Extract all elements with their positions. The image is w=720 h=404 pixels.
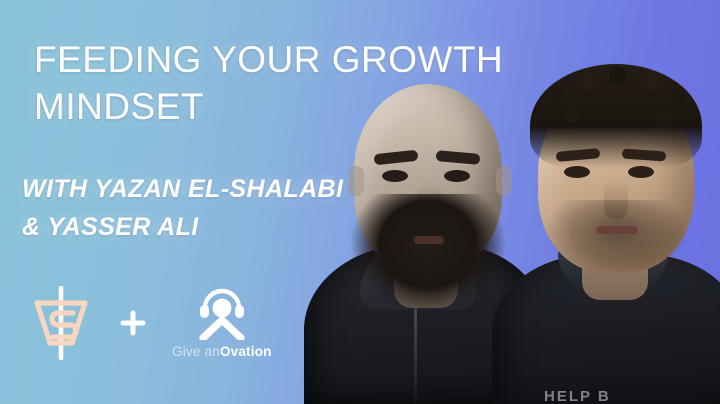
plus-icon [120, 310, 146, 336]
person-with-headphones-icon [193, 288, 251, 340]
subtitle-line-2: & YASSER ALI [22, 208, 442, 246]
subtitle-line-1: WITH YAZAN EL-SHALABI [22, 170, 442, 208]
title-line-2: MINDSET [34, 83, 574, 130]
eye-left [564, 166, 590, 178]
mouth [596, 226, 638, 234]
eye-right [628, 166, 654, 178]
ovation-wordmark: Give anOvation [172, 345, 272, 359]
title-line-1: FEEDING YOUR GROWTH [34, 36, 574, 83]
episode-title: FEEDING YOUR GROWTH MINDSET [34, 36, 574, 131]
ovation-wordmark-light: Give an [172, 344, 220, 359]
give-an-ovation-logo: Give anOvation [172, 288, 272, 359]
shirt-text: HELP B [544, 388, 611, 402]
ovation-wordmark-bold: Ovation [220, 344, 272, 359]
video-thumbnail: HELP B FEEDING YOUR GROWTH MINDSET WITH … [0, 0, 720, 404]
episode-subtitle: WITH YAZAN EL-SHALABI & YASSER ALI [22, 170, 442, 246]
brand-logo-row: Give anOvation [28, 286, 272, 360]
eye-right [444, 170, 470, 182]
shawarma-spit-s-logo-icon [28, 286, 94, 360]
